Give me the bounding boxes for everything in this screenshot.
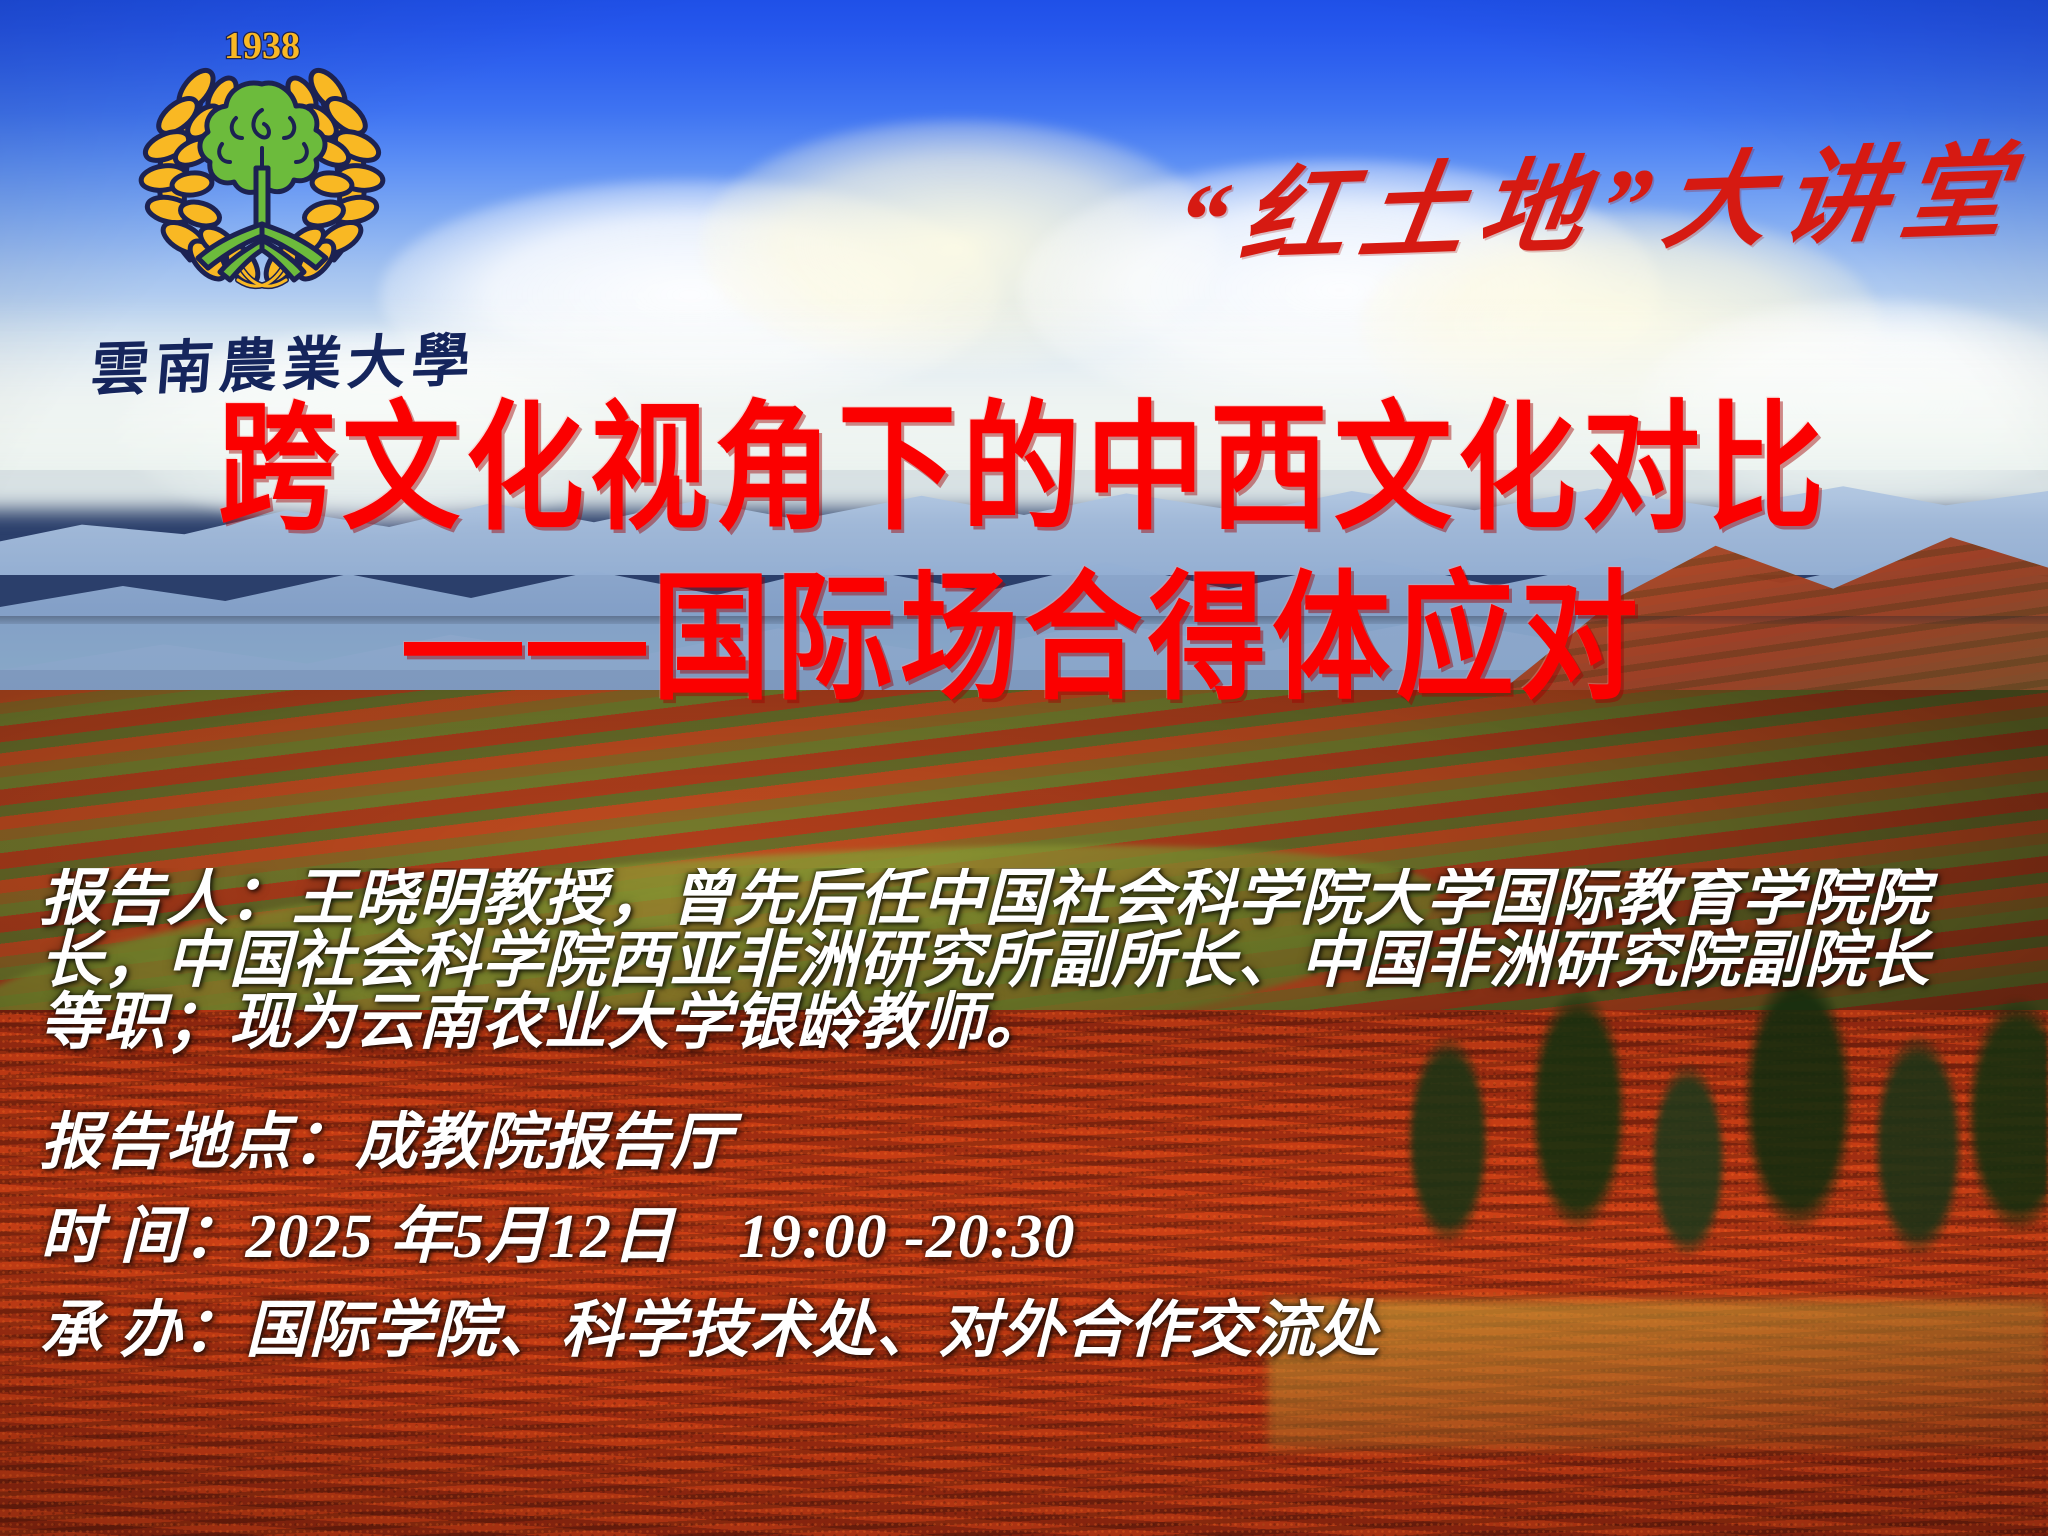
lecture-series-name: “红土地”大讲堂 <box>1167 105 2033 285</box>
logo-year-text: 1938 <box>224 25 300 67</box>
event-poster: 1938 雲南農業大學 “红土地”大讲堂 跨文化视角下的中西文化对比 ——国际场… <box>0 0 2048 1536</box>
university-logo: 1938 雲南農業大學 <box>92 18 472 388</box>
speaker-bio-line-3: 等职；现为云南农业大学银龄教师。 <box>40 992 2048 1054</box>
speaker-bio-clip: 报告人：王晓明教授，曾先后任中国社会科学院大学国际教育学院院 长，中国社会科学院… <box>40 868 2048 1080</box>
speaker-bio-line-1: 报告人：王晓明教授，曾先后任中国社会科学院大学国际教育学院院 <box>40 868 2048 930</box>
organizer-line: 承 办：国际学院、科学技术处、对外合作交流处 <box>40 1300 2048 1362</box>
time-line: 时 间：2025 年5月12日 19:00 -20:30 <box>40 1206 2048 1268</box>
event-details: 报告人：王晓明教授，曾先后任中国社会科学院大学国际教育学院院 长，中国社会科学院… <box>40 868 2048 1362</box>
venue-line: 报告地点：成教院报告厅 <box>40 1112 2048 1174</box>
wheat-wreath-tree-crest-icon: 1938 <box>112 18 412 308</box>
poster-subtitle: ——国际场合得体应对 <box>0 525 2048 727</box>
speaker-bio-line-2: 长，中国社会科学院西亚非洲研究所副所长、中国非洲研究院副院长 <box>40 930 2048 992</box>
